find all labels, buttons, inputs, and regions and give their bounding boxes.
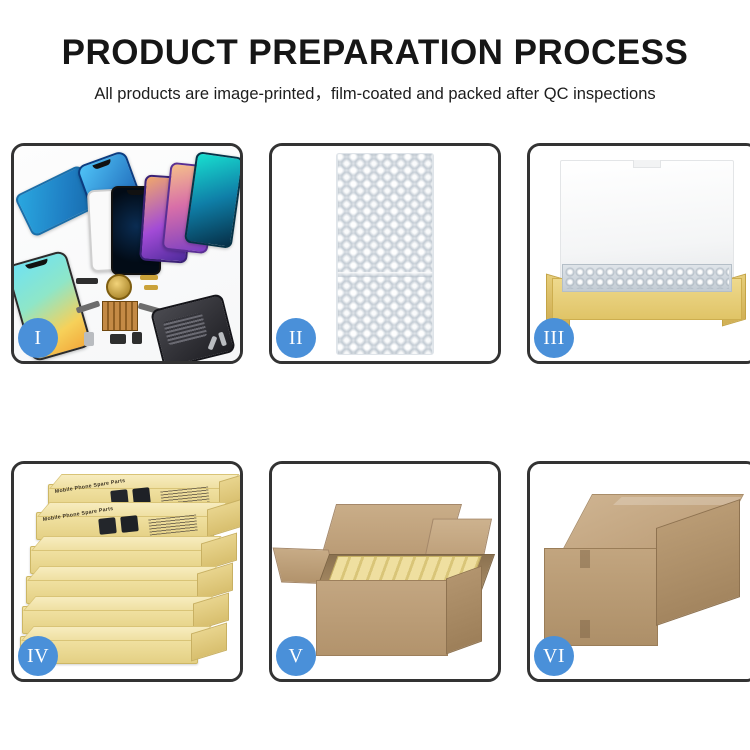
sealed-carton-icon: [544, 494, 744, 654]
step-panel-2: II: [269, 143, 501, 364]
part-coil-icon: [106, 274, 132, 300]
part-camera-icon: [110, 334, 126, 344]
part-chip-grid-icon: [102, 301, 138, 331]
open-carton-icon: [294, 500, 480, 656]
step-badge-6: VI: [534, 636, 574, 676]
step-panel-1: I: [11, 143, 243, 364]
step-badge-2: II: [276, 318, 316, 358]
steps-grid: I II: [11, 143, 739, 682]
step-panel-3: III: [527, 143, 750, 364]
inner-box-icon: [552, 264, 740, 320]
part-connector-icon: [76, 278, 98, 284]
step-badge-5: V: [276, 636, 316, 676]
stacked-boxes-icon: Mobile Phone Spare Parts Mobile Phone Sp…: [20, 484, 234, 666]
box-lid-icon: [560, 160, 734, 280]
step-panel-5: V: [269, 461, 501, 682]
step-badge-4: IV: [18, 636, 58, 676]
step-badge-3: III: [534, 318, 574, 358]
part-bracket2-icon: [144, 285, 158, 290]
page-subtitle: All products are image-printed，film-coat…: [0, 73, 750, 104]
step-badge-1: I: [18, 318, 58, 358]
product-preparation-infographic: PRODUCT PREPARATION PROCESS All products…: [0, 0, 750, 750]
part-sim-tray-icon: [84, 332, 94, 346]
step-panel-4: Mobile Phone Spare Parts Mobile Phone Sp…: [11, 461, 243, 682]
bubble-wrap-icon: [336, 153, 434, 355]
part-speaker-icon: [132, 332, 142, 344]
header: PRODUCT PREPARATION PROCESS All products…: [0, 0, 750, 104]
part-bracket-icon: [140, 275, 158, 280]
page-title: PRODUCT PREPARATION PROCESS: [0, 0, 750, 73]
step-panel-6: VI: [527, 461, 750, 682]
phone-backplate-icon: [150, 293, 236, 364]
